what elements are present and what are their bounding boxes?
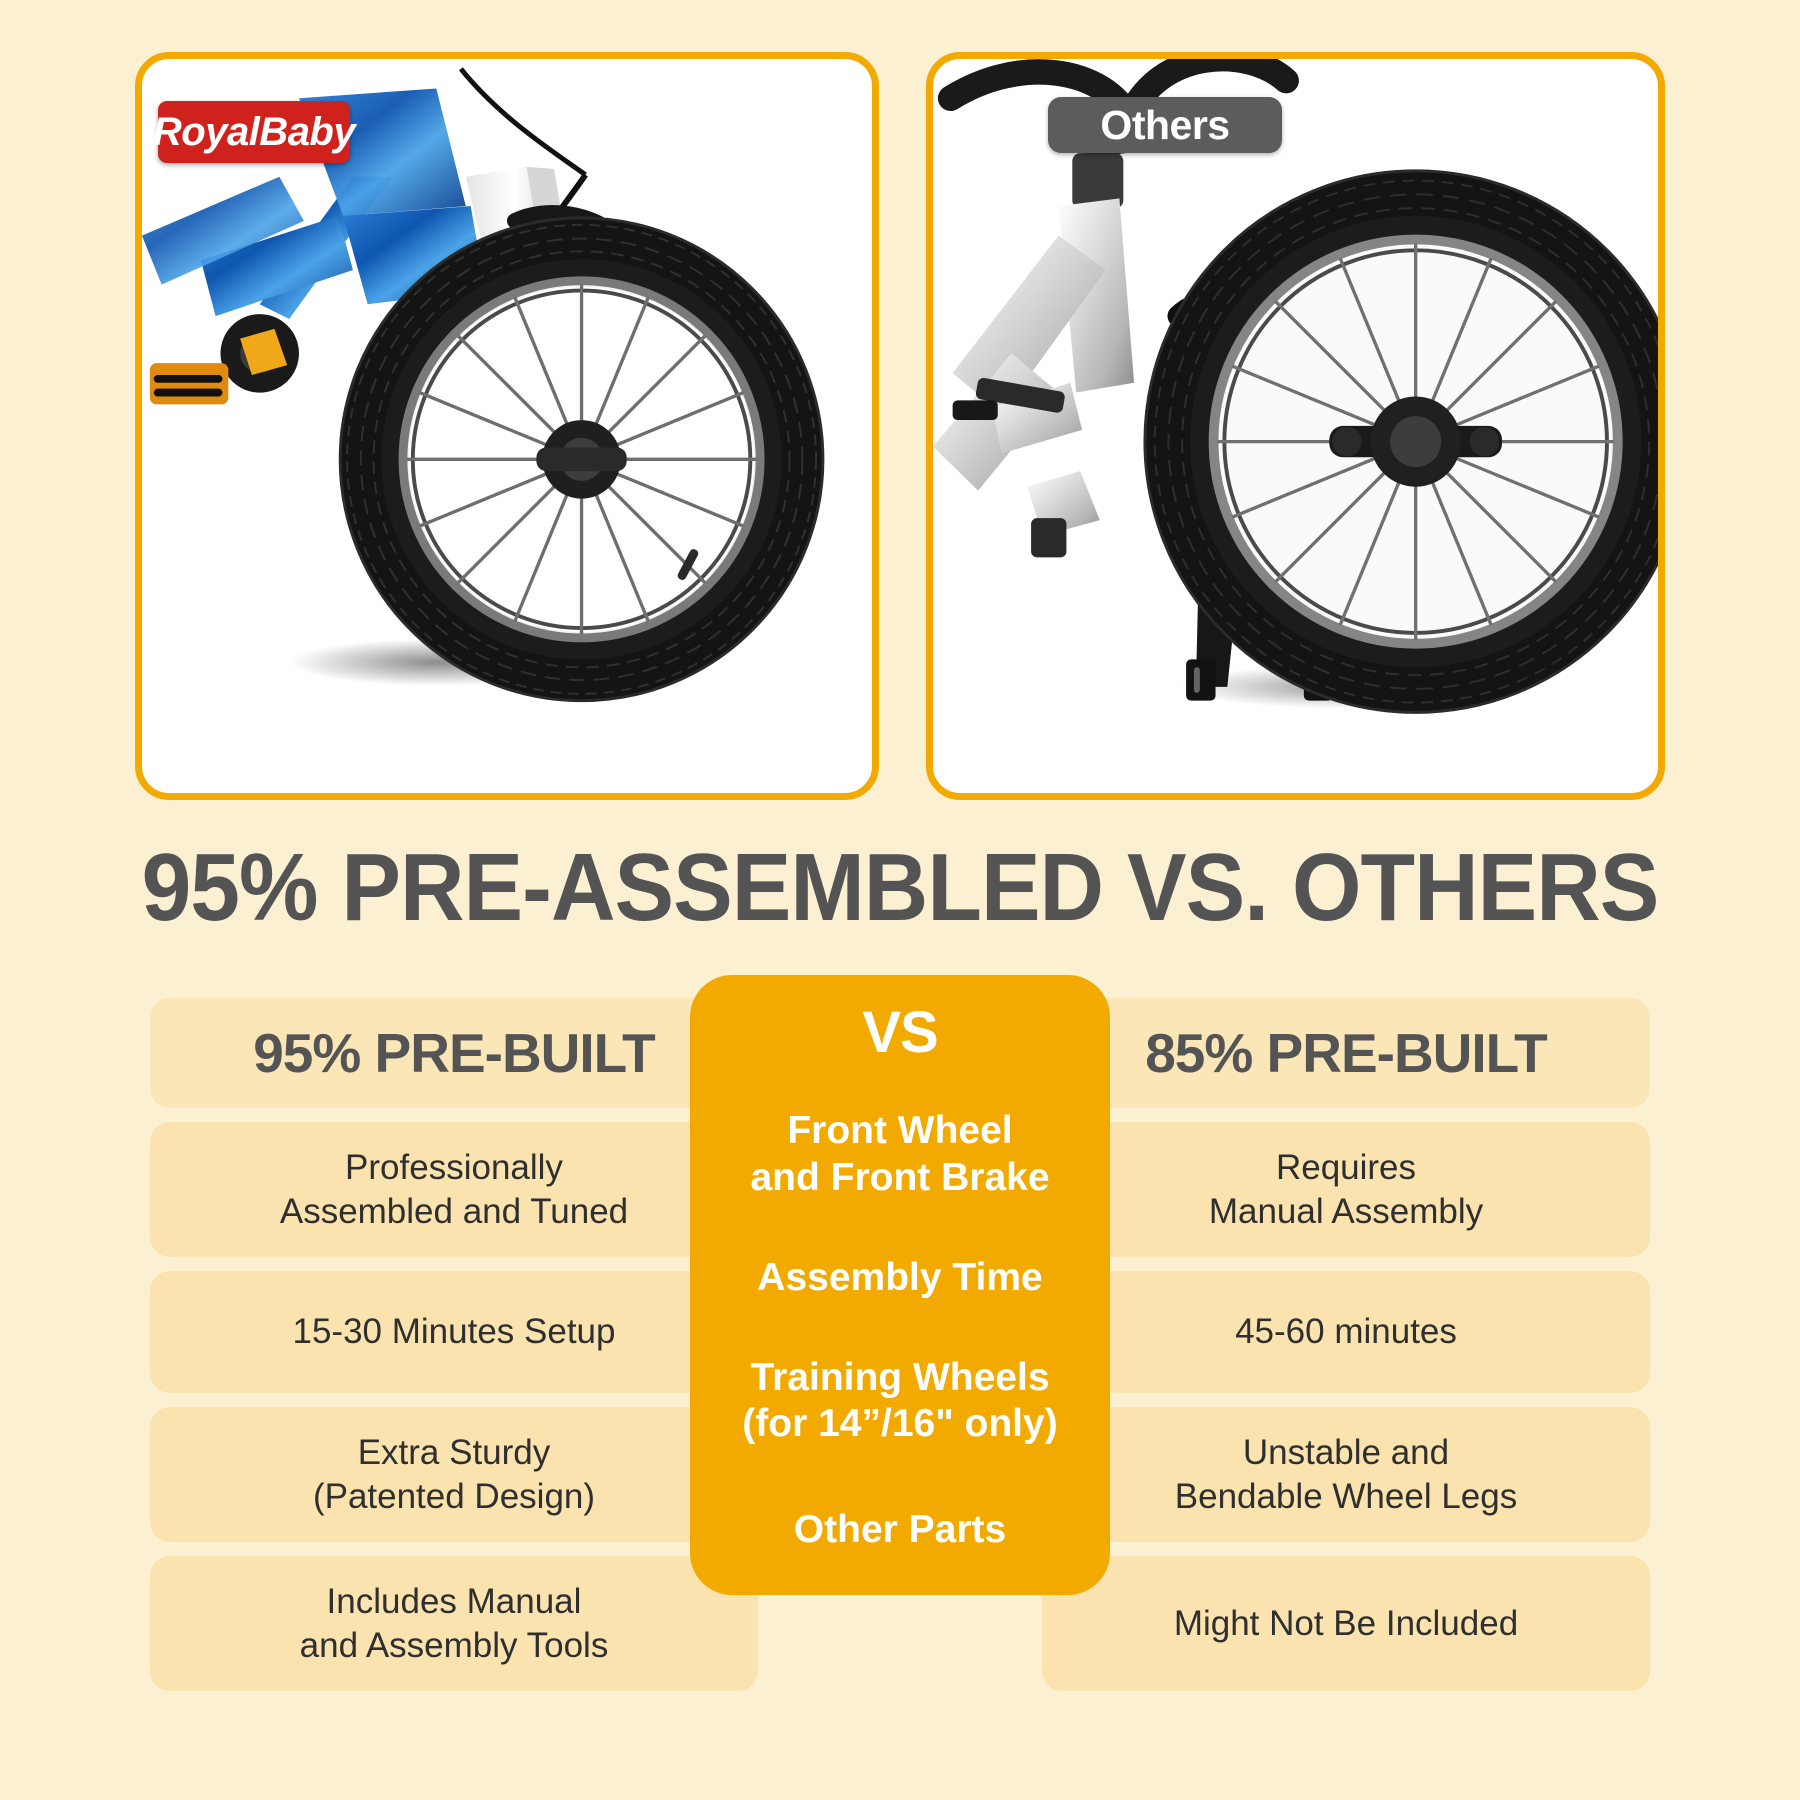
brand-badge-royalbaby: RoyalBaby [158,101,350,163]
others-bike-illustration [933,59,1658,793]
row-4-left-value: Includes Manualand Assembly Tools [150,1556,758,1691]
row-2-right-value: 45-60 minutes [1042,1271,1650,1393]
royalbaby-bike-illustration [142,59,872,793]
comparison-image-panels: RoyalBaby [135,52,1665,800]
header-cell-royalbaby: 95% PRE-BUILT [150,998,758,1108]
brand-badge-others: Others [1048,97,1282,153]
criteria-2-label: Assembly Time [690,1219,1110,1337]
product-image-panel-royalbaby: RoyalBaby [135,52,879,800]
criteria-4-label: Other Parts [690,1466,1110,1595]
row-3-right-value: Unstable andBendable Wheel Legs [1042,1407,1650,1542]
row-1-left-value: ProfessionallyAssembled and Tuned [150,1122,758,1257]
row-1-right-value: RequiresManual Assembly [1042,1122,1650,1257]
page-title: 95% PRE-ASSEMBLED VS. OTHERS [63,840,1737,936]
row-2-left-value: 15-30 Minutes Setup [150,1271,758,1393]
row-4-right-value: Might Not Be Included [1042,1556,1650,1691]
vs-label: VS [862,975,937,1090]
product-image-panel-others: Others [926,52,1665,800]
criteria-3-label: Training Wheels(for 14”/16" only) [690,1337,1110,1466]
row-3-left-value: Extra Sturdy(Patented Design) [150,1407,758,1542]
comparison-criteria-column: VS Front Wheeland Front Brake Assembly T… [690,975,1110,1595]
header-cell-others: 85% PRE-BUILT [1042,998,1650,1108]
criteria-1-label: Front Wheeland Front Brake [690,1090,1110,1219]
